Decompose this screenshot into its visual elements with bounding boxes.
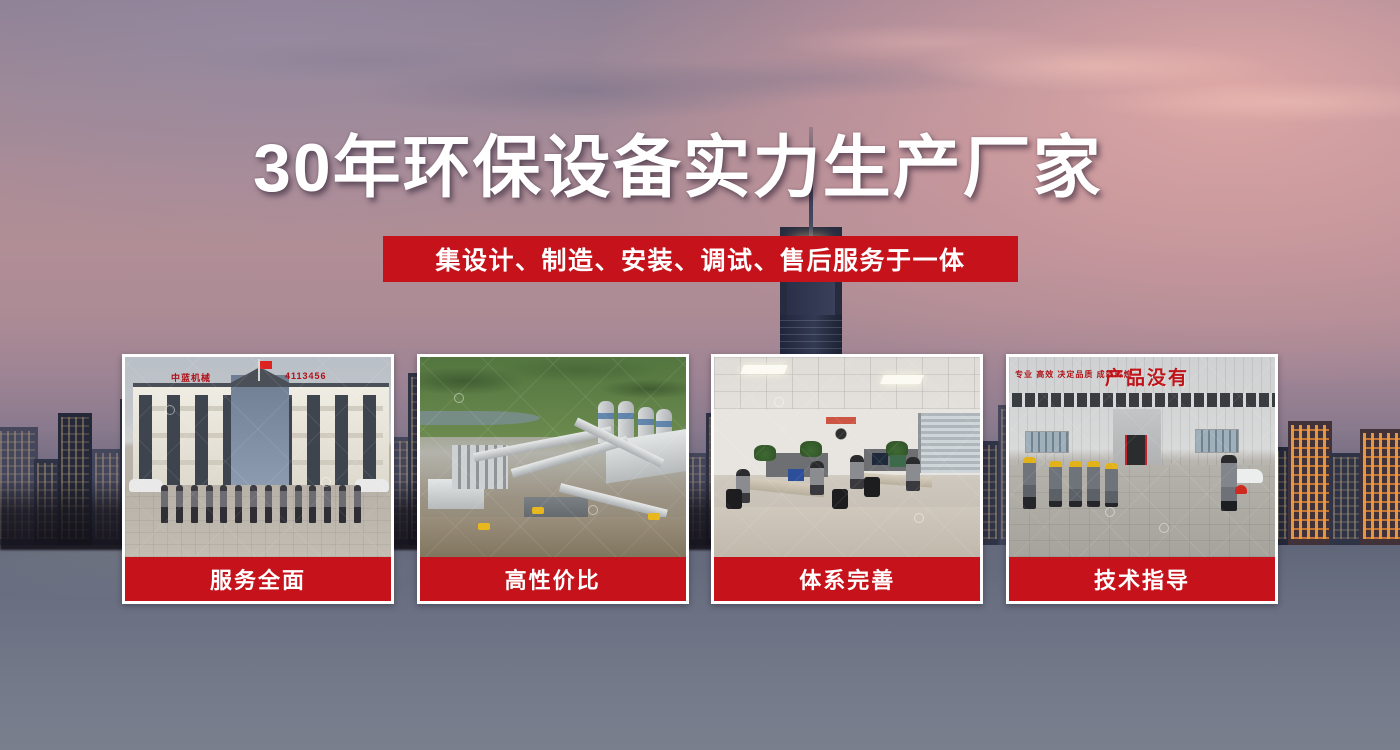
subtitle-banner: 集设计、制造、安装、调试、售后服务于一体 <box>383 236 1018 282</box>
card-caption-bar: 技术指导 <box>1009 557 1275 601</box>
feature-card-list: 中蓝机械 4113456 服务全面 <box>122 354 1278 604</box>
feature-card-training[interactable]: 专业 高效 决定品质 成就辉煌 产品没有 技术指导 <box>1006 354 1278 604</box>
card-caption-bar: 服务全面 <box>125 557 391 601</box>
red-helmet-icon <box>1235 485 1247 494</box>
card-caption-text: 技术指导 <box>1094 563 1190 595</box>
photo-industrial-plant <box>420 357 686 557</box>
card-caption-bar: 高性价比 <box>420 557 686 601</box>
feature-card-system[interactable]: 体系完善 <box>711 354 983 604</box>
feature-card-value[interactable]: 高性价比 <box>417 354 689 604</box>
wall-emblem-icon <box>826 417 856 443</box>
building-phone-text: 4113456 <box>285 371 327 381</box>
subtitle-text: 集设计、制造、安装、调试、售后服务于一体 <box>435 241 965 277</box>
card-caption-text: 体系完善 <box>799 563 895 595</box>
photo-worker-lineup: 专业 高效 决定品质 成就辉煌 产品没有 <box>1009 357 1275 557</box>
staff-lineup <box>161 485 361 525</box>
feature-card-service[interactable]: 中蓝机械 4113456 服务全面 <box>122 354 394 604</box>
card-caption-bar: 体系完善 <box>714 557 980 601</box>
building-sign-text: 中蓝机械 <box>171 371 211 384</box>
factory-slogan-text: 产品没有 <box>1105 363 1189 390</box>
page-title: 30年环保设备实力生产厂家 <box>253 132 1153 205</box>
photo-office-interior <box>714 357 980 557</box>
photo-company-building: 中蓝机械 4113456 <box>125 357 391 557</box>
card-caption-text: 服务全面 <box>210 563 306 595</box>
card-caption-text: 高性价比 <box>505 563 601 595</box>
promo-banner: 30年环保设备实力生产厂家 集设计、制造、安装、调试、售后服务于一体 中蓝机械 … <box>0 0 1400 750</box>
